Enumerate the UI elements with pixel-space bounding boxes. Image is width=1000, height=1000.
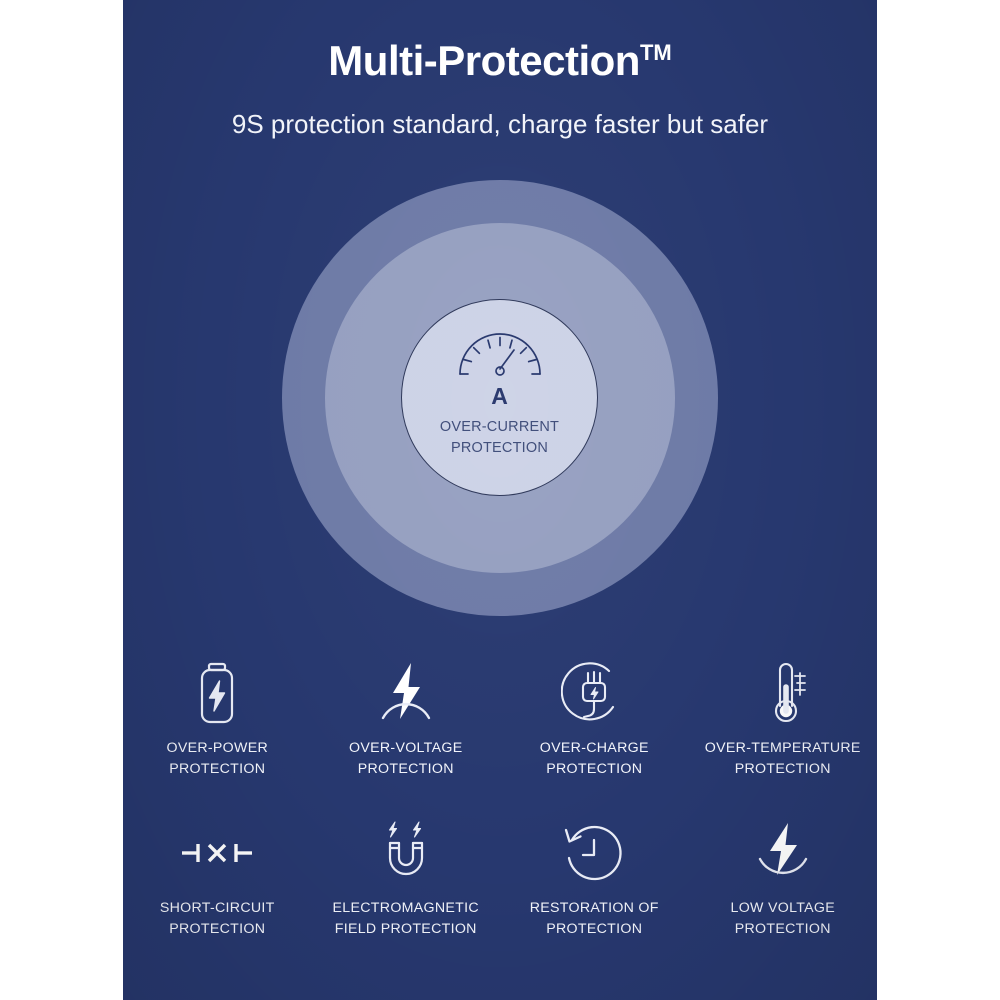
core-label-line1: OVER-CURRENT	[440, 417, 559, 438]
feature-item: RESTORATION OF PROTECTION	[500, 820, 689, 980]
bolt-over-arc-icon	[375, 660, 437, 726]
core-label: OVER-CURRENT PROTECTION	[440, 417, 559, 459]
page-subtitle: 9S protection standard, charge faster bu…	[123, 110, 877, 139]
feature-label: OVER-POWER PROTECTION	[166, 738, 268, 781]
feature-label: RESTORATION OF PROTECTION	[530, 898, 659, 941]
feature-item: SHORT-CIRCUIT PROTECTION	[123, 820, 312, 980]
ampere-symbol: A	[491, 385, 508, 408]
feature-item: OVER-POWER PROTECTION	[123, 660, 312, 820]
core-label-line2: PROTECTION	[440, 438, 559, 459]
feature-item: OVER-TEMPERATURE PROTECTION	[689, 660, 878, 820]
feature-item: LOW VOLTAGE PROTECTION	[689, 820, 878, 980]
thermometer-icon	[756, 660, 810, 726]
feature-label: OVER-TEMPERATURE PROTECTION	[705, 738, 861, 781]
feature-label: LOW VOLTAGE PROTECTION	[731, 898, 835, 941]
feature-label: OVER-VOLTAGE PROTECTION	[349, 738, 462, 781]
short-circuit-icon	[180, 820, 254, 886]
clock-restore-arrow-icon	[563, 820, 625, 886]
blue-panel: Multi-ProtectionTM 9S protection standar…	[123, 0, 877, 1000]
feature-item: OVER-VOLTAGE PROTECTION	[312, 660, 501, 820]
feature-label: SHORT-CIRCUIT PROTECTION	[160, 898, 275, 941]
ammeter-gauge-icon	[452, 324, 548, 383]
page-title: Multi-ProtectionTM	[123, 40, 877, 82]
feature-label: ELECTROMAGNETIC FIELD PROTECTION	[333, 898, 479, 941]
feature-item: OVER-CHARGE PROTECTION	[500, 660, 689, 820]
poster-root: Multi-ProtectionTM 9S protection standar…	[0, 0, 1000, 1000]
core-circle: A OVER-CURRENT PROTECTION	[401, 299, 598, 496]
battery-bolt-icon	[193, 660, 241, 726]
horseshoe-magnet-icon	[377, 820, 435, 886]
bolt-under-arc-icon	[752, 820, 814, 886]
trademark-mark: TM	[640, 40, 672, 65]
plug-in-circle-icon	[561, 660, 627, 726]
feature-label: OVER-CHARGE PROTECTION	[540, 738, 649, 781]
page-title-text: Multi-Protection	[328, 37, 640, 84]
feature-grid: OVER-POWER PROTECTION OVER-VOLTAGE PROTE…	[123, 660, 877, 980]
feature-item: ELECTROMAGNETIC FIELD PROTECTION	[312, 820, 501, 980]
